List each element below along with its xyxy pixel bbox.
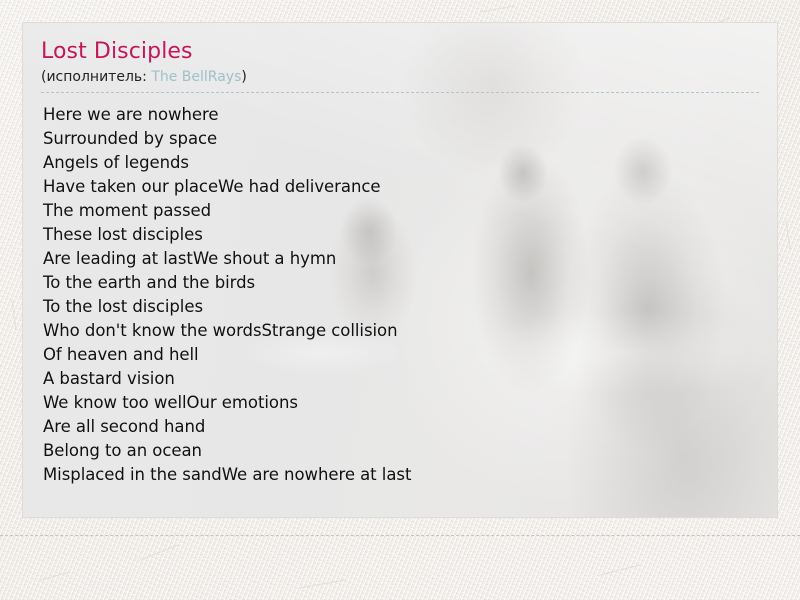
card-content: Lost Disciples (исполнитель: The BellRay… [23,23,777,487]
lyrics-line: The moment passed [43,199,759,223]
lyrics-line: Of heaven and hell [43,343,759,367]
lyrics-line: Angels of legends [43,151,759,175]
lyrics-line: Who don't know the wordsStrange collisio… [43,319,759,343]
lyrics-line: Here we are nowhere [43,103,759,127]
song-card: Lost Disciples (исполнитель: The BellRay… [22,22,778,518]
lyrics-line: A bastard vision [43,367,759,391]
lyrics-line: Belong to an ocean [43,439,759,463]
lyrics-line: To the lost disciples [43,295,759,319]
lyrics-line: To the earth and the birds [43,271,759,295]
artist-link[interactable]: The BellRays [151,69,241,85]
page-bottom-dashed-rule [0,535,800,536]
lyrics-line: Have taken our placeWe had deliverance [43,175,759,199]
artist-prefix-label: (исполнитель: [41,69,151,85]
lyrics-line: Misplaced in the sandWe are nowhere at l… [43,463,759,487]
artist-suffix-label: ) [241,69,246,85]
lyrics-line: These lost disciples [43,223,759,247]
lyrics-line: Are leading at lastWe shout a hymn [43,247,759,271]
lyrics-list: Here we are nowhere Surrounded by space … [41,93,759,487]
lyrics-line: Are all second hand [43,415,759,439]
artist-line: (исполнитель: The BellRays) [41,68,759,93]
lyrics-line: We know too wellOur emotions [43,391,759,415]
page-title: Lost Disciples [41,39,759,65]
lyrics-line: Surrounded by space [43,127,759,151]
